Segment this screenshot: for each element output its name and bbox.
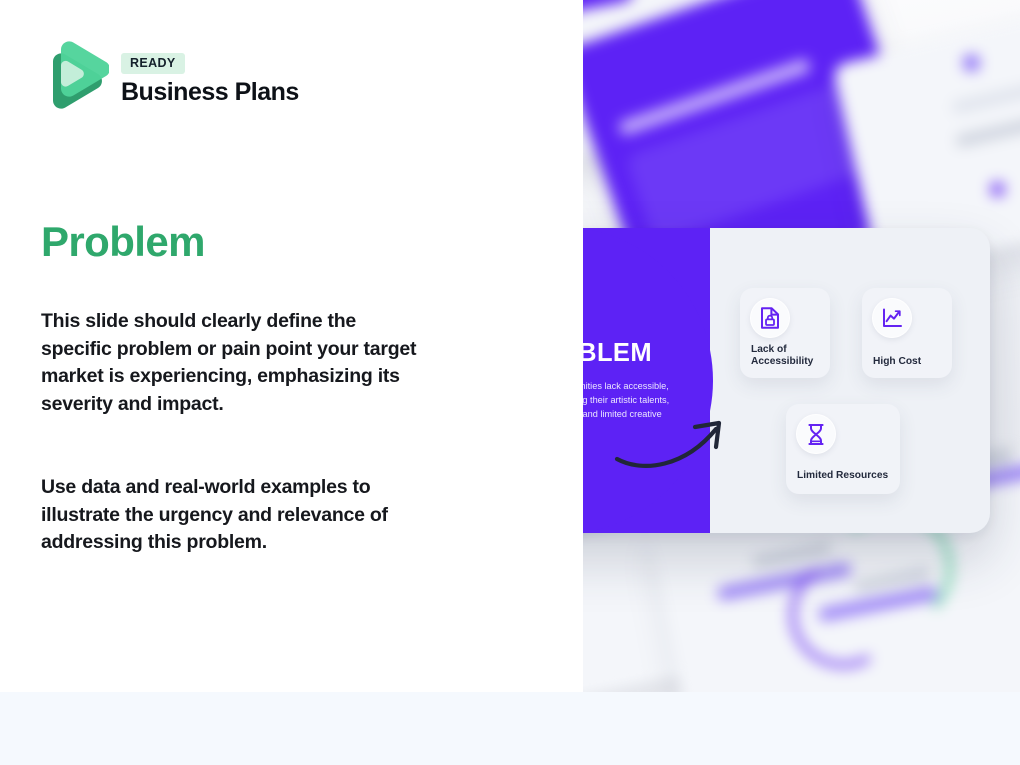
document-lock-icon: [750, 298, 790, 338]
brand-logo-row[interactable]: READY Business Plans: [41, 37, 299, 119]
feature-label: Limited Resources: [797, 470, 893, 483]
feature-card-high-cost[interactable]: High Cost: [862, 288, 952, 378]
feature-label: Lack of Accessibility: [751, 344, 823, 369]
description-paragraph-2: Use data and real-world examples to illu…: [41, 474, 421, 557]
feature-label: High Cost: [873, 356, 945, 369]
brand-text-block: READY Business Plans: [121, 50, 299, 107]
play-triangle-logo-icon: [41, 37, 109, 119]
brand-name: Business Plans: [121, 78, 299, 107]
left-content-column: READY Business Plans Problem This slide …: [0, 0, 583, 765]
ready-badge: READY: [121, 53, 185, 74]
slide-template-preview-page: THE PROBLEM Many individuals and communi…: [0, 0, 1020, 765]
line-chart-icon: [872, 298, 912, 338]
feature-card-limited-resources[interactable]: Limited Resources: [786, 404, 900, 494]
description-paragraph-1: This slide should clearly define the spe…: [41, 308, 421, 419]
bottom-accent-band: [0, 692, 1020, 765]
feature-card-lack-of-accessibility[interactable]: Lack of Accessibility: [740, 288, 830, 378]
hourglass-icon: [796, 414, 836, 454]
page-title: Problem: [41, 218, 205, 266]
curved-arrow-icon: [613, 403, 743, 473]
